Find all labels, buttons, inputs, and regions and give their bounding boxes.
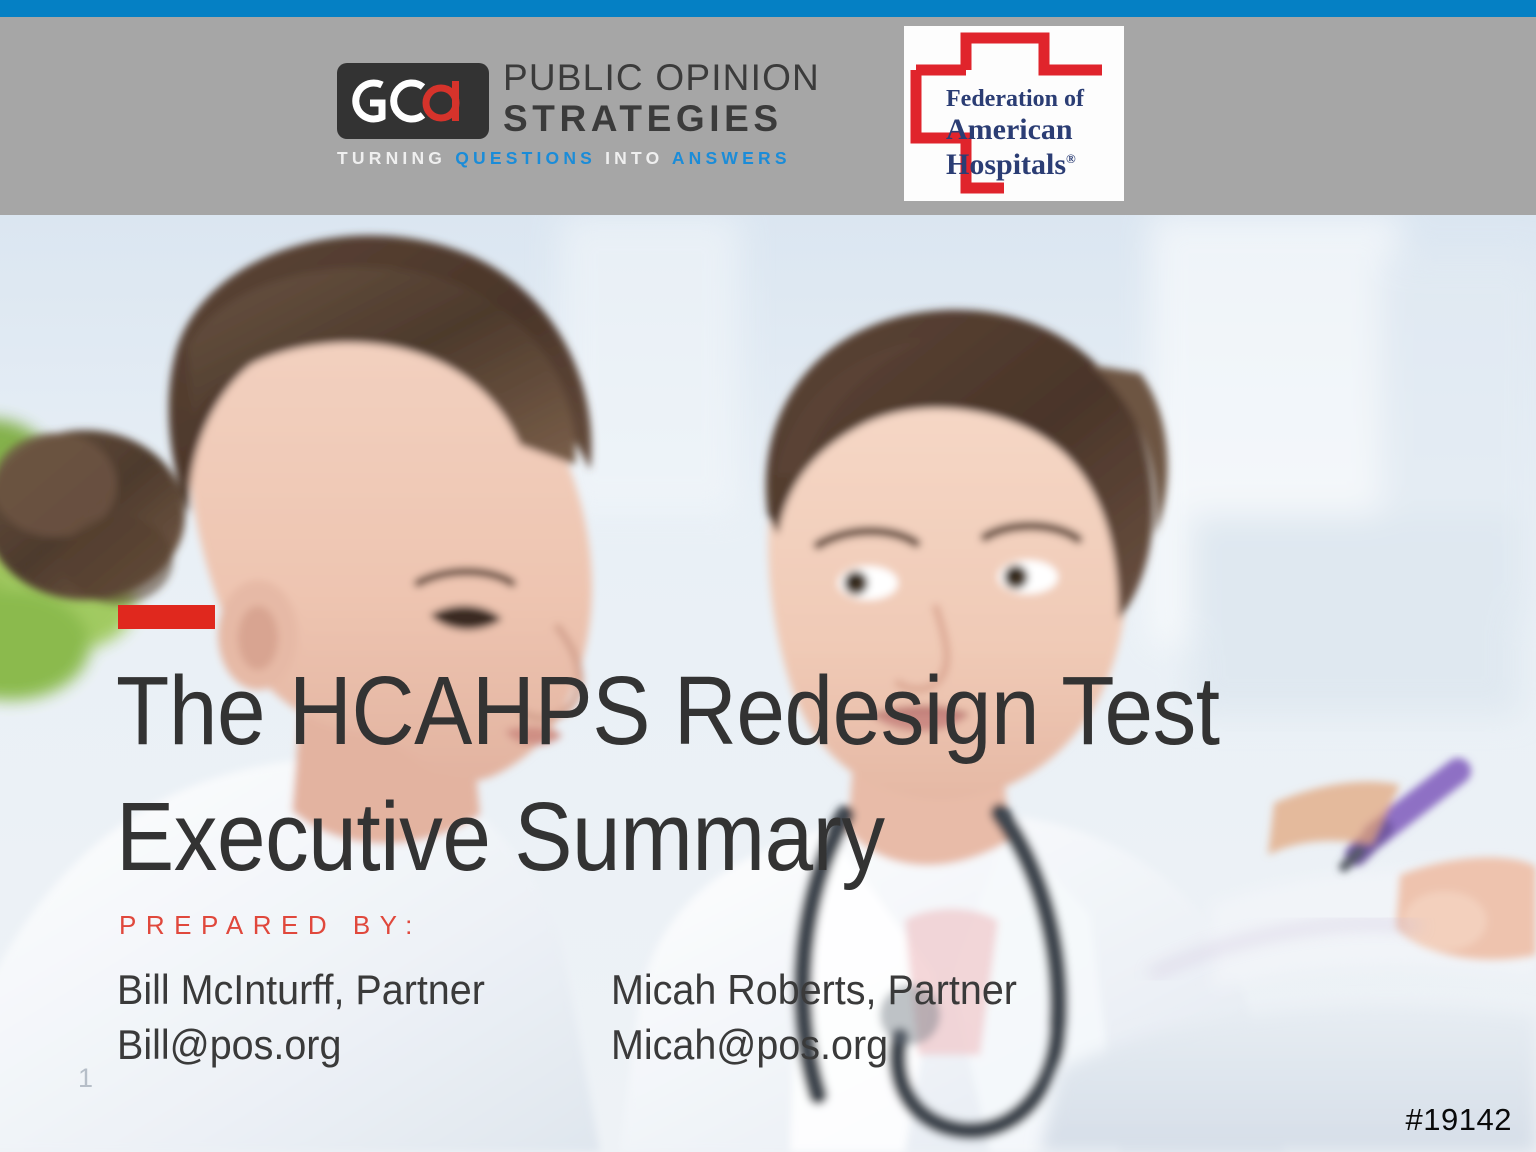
author-name: Micah Roberts, Partner <box>611 963 1017 1018</box>
page-title: The HCAHPS Redesign Test Executive Summa… <box>116 648 1286 900</box>
fah-line-2: American <box>946 113 1122 147</box>
author-name: Bill McInturff, Partner <box>117 963 485 1018</box>
author-email[interactable]: Bill@pos.org <box>117 1018 485 1073</box>
document-code: #19142 <box>1406 1102 1512 1138</box>
prepared-by-label: PREPARED BY: <box>119 910 422 941</box>
tagline-word-answers: ANSWERS <box>672 148 791 168</box>
slide-number: 1 <box>78 1063 93 1094</box>
pos-line-2: STRATEGIES <box>503 98 807 140</box>
fah-line-3-text: Hospitals <box>946 148 1066 181</box>
title-line-1: The HCAHPS Redesign Test <box>116 648 1286 774</box>
author-list: Bill McInturff, Partner Bill@pos.org Mic… <box>117 963 1217 1072</box>
tagline-word-turning: TURNING <box>337 148 446 168</box>
public-opinion-strategies-logo: PUBLIC OPINION STRATEGIES TURNING QUESTI… <box>337 58 807 180</box>
tagline-word-questions: QUESTIONS <box>455 148 596 168</box>
author-entry: Micah Roberts, Partner Micah@pos.org <box>611 963 1017 1072</box>
author-entry: Bill McInturff, Partner Bill@pos.org <box>117 963 485 1072</box>
pos-logo-mark <box>337 63 489 139</box>
fah-line-3: Hospitals® <box>946 148 1122 182</box>
pos-logo-wordmark: PUBLIC OPINION STRATEGIES <box>503 58 807 140</box>
fah-line-1: Federation of <box>946 86 1122 113</box>
tagline-word-into: INTO <box>605 148 663 168</box>
federation-of-american-hospitals-logo: Federation of American Hospitals® <box>904 26 1124 201</box>
presentation-slide: PUBLIC OPINION STRATEGIES TURNING QUESTI… <box>0 0 1536 1152</box>
title-accent-bar <box>118 605 215 629</box>
author-email[interactable]: Micah@pos.org <box>611 1018 1017 1073</box>
title-line-2: Executive Summary <box>116 774 1286 900</box>
pos-tagline: TURNING QUESTIONS INTO ANSWERS <box>337 148 807 169</box>
pos-line-1: PUBLIC OPINION <box>503 58 807 98</box>
registered-trademark-icon: ® <box>1066 151 1076 166</box>
top-accent-rule <box>0 0 1536 17</box>
fah-wordmark: Federation of American Hospitals® <box>946 86 1122 182</box>
